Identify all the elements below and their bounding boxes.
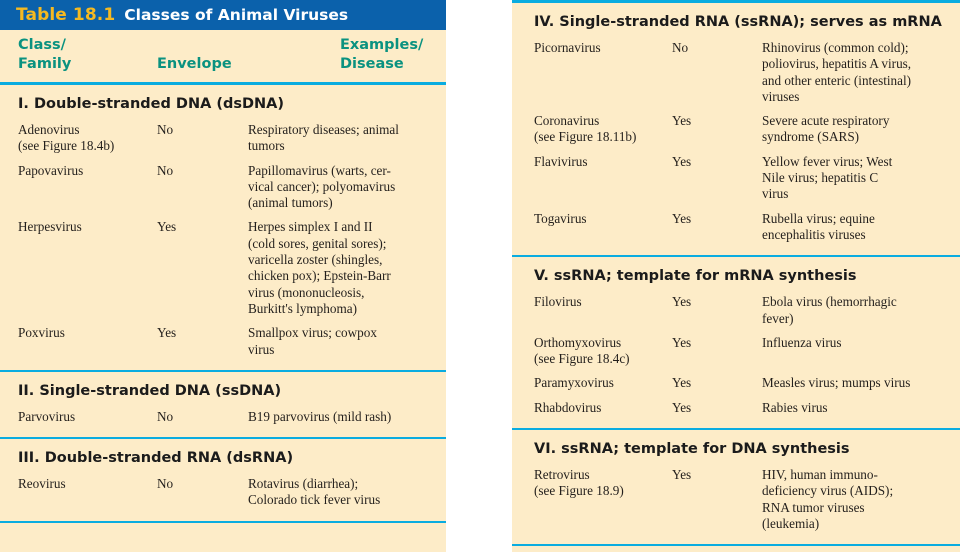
cell-examples: HIV, human immuno- deficiency virus (AID… — [762, 467, 954, 532]
table-row: ParamyxovirusYesMeasles virus; mumps vir… — [512, 375, 960, 395]
column-header-examples-disease: Examples/ Disease — [340, 36, 423, 73]
section-heading: III. Double-stranded RNA (dsRNA) — [0, 439, 446, 476]
table-right-column: IV. Single-stranded RNA (ssRNA); serves … — [512, 0, 960, 552]
section-heading: V. ssRNA; template for mRNA synthesis — [512, 257, 960, 294]
cell-envelope: Yes — [672, 211, 752, 227]
cell-envelope: No — [157, 163, 237, 179]
column-header-class-family: Class/ Family — [18, 36, 71, 73]
table-bottom-rule — [512, 544, 960, 546]
cell-family: Herpesvirus — [18, 219, 153, 235]
cell-examples: Influenza virus — [762, 335, 954, 351]
cell-family: Orthomyxovirus (see Figure 18.4c) — [534, 335, 674, 368]
cell-envelope: Yes — [672, 335, 752, 351]
cell-envelope: No — [157, 409, 237, 425]
table-row: Retrovirus (see Figure 18.9)YesHIV, huma… — [512, 467, 960, 536]
table-row: ReovirusNoRotavirus (diarrhea); Colorado… — [0, 476, 446, 513]
cell-examples: Rubella virus; equine encephalitis virus… — [762, 211, 954, 244]
table-row: Coronavirus (see Figure 18.11b)YesSevere… — [512, 113, 960, 150]
cell-family: Parvovirus — [18, 409, 153, 425]
cell-envelope: Yes — [672, 400, 752, 416]
section-rows: PicornavirusNoRhinovirus (common cold); … — [512, 40, 960, 255]
table-row: PapovavirusNoPapillomavirus (warts, cer-… — [0, 163, 446, 216]
table-left-column: Table 18.1 Classes of Animal Viruses Cla… — [0, 0, 446, 552]
cell-examples: Smallpox virus; cowpox virus — [248, 325, 438, 358]
section-rows: Retrovirus (see Figure 18.9)YesHIV, huma… — [512, 467, 960, 544]
section-rows: ParvovirusNoB19 parvovirus (mild rash) — [0, 409, 446, 437]
cell-family: Reovirus — [18, 476, 153, 492]
section-rows: Adenovirus (see Figure 18.4b)NoRespirato… — [0, 122, 446, 370]
section-heading: VI. ssRNA; template for DNA synthesis — [512, 430, 960, 467]
table-row: Orthomyxovirus (see Figure 18.4c)YesInfl… — [512, 335, 960, 372]
cell-examples: Ebola virus (hemorrhagic fever) — [762, 294, 954, 327]
table-row: ParvovirusNoB19 parvovirus (mild rash) — [0, 409, 446, 429]
table-number-label: Table 18.1 — [16, 5, 115, 25]
cell-envelope: No — [157, 122, 237, 138]
table-row: Adenovirus (see Figure 18.4b)NoRespirato… — [0, 122, 446, 159]
column-header-row: Class/ Family Envelope Examples/ Disease — [0, 30, 446, 82]
cell-envelope: Yes — [672, 294, 752, 310]
cell-envelope: No — [672, 40, 752, 56]
table-right-body: IV. Single-stranded RNA (ssRNA); serves … — [512, 3, 960, 546]
cell-examples: Measles virus; mumps virus — [762, 375, 954, 391]
table-row: PoxvirusYesSmallpox virus; cowpox virus — [0, 325, 446, 362]
cell-family: Picornavirus — [534, 40, 674, 56]
cell-examples: B19 parvovirus (mild rash) — [248, 409, 438, 425]
cell-family: Togavirus — [534, 211, 674, 227]
cell-family: Papovavirus — [18, 163, 153, 179]
cell-examples: Yellow fever virus; West Nile virus; hep… — [762, 154, 954, 203]
cell-envelope: Yes — [672, 154, 752, 170]
cell-family: Filovirus — [534, 294, 674, 310]
cell-examples: Severe acute respiratory syndrome (SARS) — [762, 113, 954, 146]
cell-family: Rhabdovirus — [534, 400, 674, 416]
cell-examples: Rhinovirus (common cold); poliovirus, he… — [762, 40, 954, 105]
section-heading: IV. Single-stranded RNA (ssRNA); serves … — [512, 3, 960, 40]
table-left-body: I. Double-stranded DNA (dsDNA)Adenovirus… — [0, 85, 446, 523]
table-bottom-rule — [0, 521, 446, 523]
cell-examples: Rabies virus — [762, 400, 954, 416]
cell-family: Adenovirus (see Figure 18.4b) — [18, 122, 153, 155]
cell-envelope: Yes — [672, 113, 752, 129]
cell-envelope: Yes — [157, 325, 237, 341]
cell-family: Flavivirus — [534, 154, 674, 170]
table-title-bar: Table 18.1 Classes of Animal Viruses — [0, 0, 446, 30]
section-heading: I. Double-stranded DNA (dsDNA) — [0, 85, 446, 122]
cell-envelope: Yes — [157, 219, 237, 235]
cell-examples: Herpes simplex I and II (cold sores, gen… — [248, 219, 438, 317]
table-title: Classes of Animal Viruses — [124, 6, 348, 24]
table-row: TogavirusYesRubella virus; equine enceph… — [512, 211, 960, 248]
section-heading: II. Single-stranded DNA (ssDNA) — [0, 372, 446, 409]
cell-examples: Papillomavirus (warts, cer- vical cancer… — [248, 163, 438, 212]
table-row: FilovirusYesEbola virus (hemorrhagic fev… — [512, 294, 960, 331]
cell-examples: Rotavirus (diarrhea); Colorado tick feve… — [248, 476, 438, 509]
cell-family: Paramyxovirus — [534, 375, 674, 391]
table-row: HerpesvirusYesHerpes simplex I and II (c… — [0, 219, 446, 321]
table-row: FlavivirusYesYellow fever virus; West Ni… — [512, 154, 960, 207]
column-header-envelope: Envelope — [157, 55, 232, 74]
cell-examples: Respiratory diseases; animal tumors — [248, 122, 438, 155]
table-row: RhabdovirusYesRabies virus — [512, 400, 960, 420]
cell-family: Retrovirus (see Figure 18.9) — [534, 467, 674, 500]
table-page: Table 18.1 Classes of Animal Viruses Cla… — [0, 0, 960, 552]
cell-family: Coronavirus (see Figure 18.11b) — [534, 113, 674, 146]
section-rows: ReovirusNoRotavirus (diarrhea); Colorado… — [0, 476, 446, 521]
cell-family: Poxvirus — [18, 325, 153, 341]
cell-envelope: Yes — [672, 375, 752, 391]
section-rows: FilovirusYesEbola virus (hemorrhagic fev… — [512, 294, 960, 428]
table-row: PicornavirusNoRhinovirus (common cold); … — [512, 40, 960, 109]
cell-envelope: Yes — [672, 467, 752, 483]
cell-envelope: No — [157, 476, 237, 492]
